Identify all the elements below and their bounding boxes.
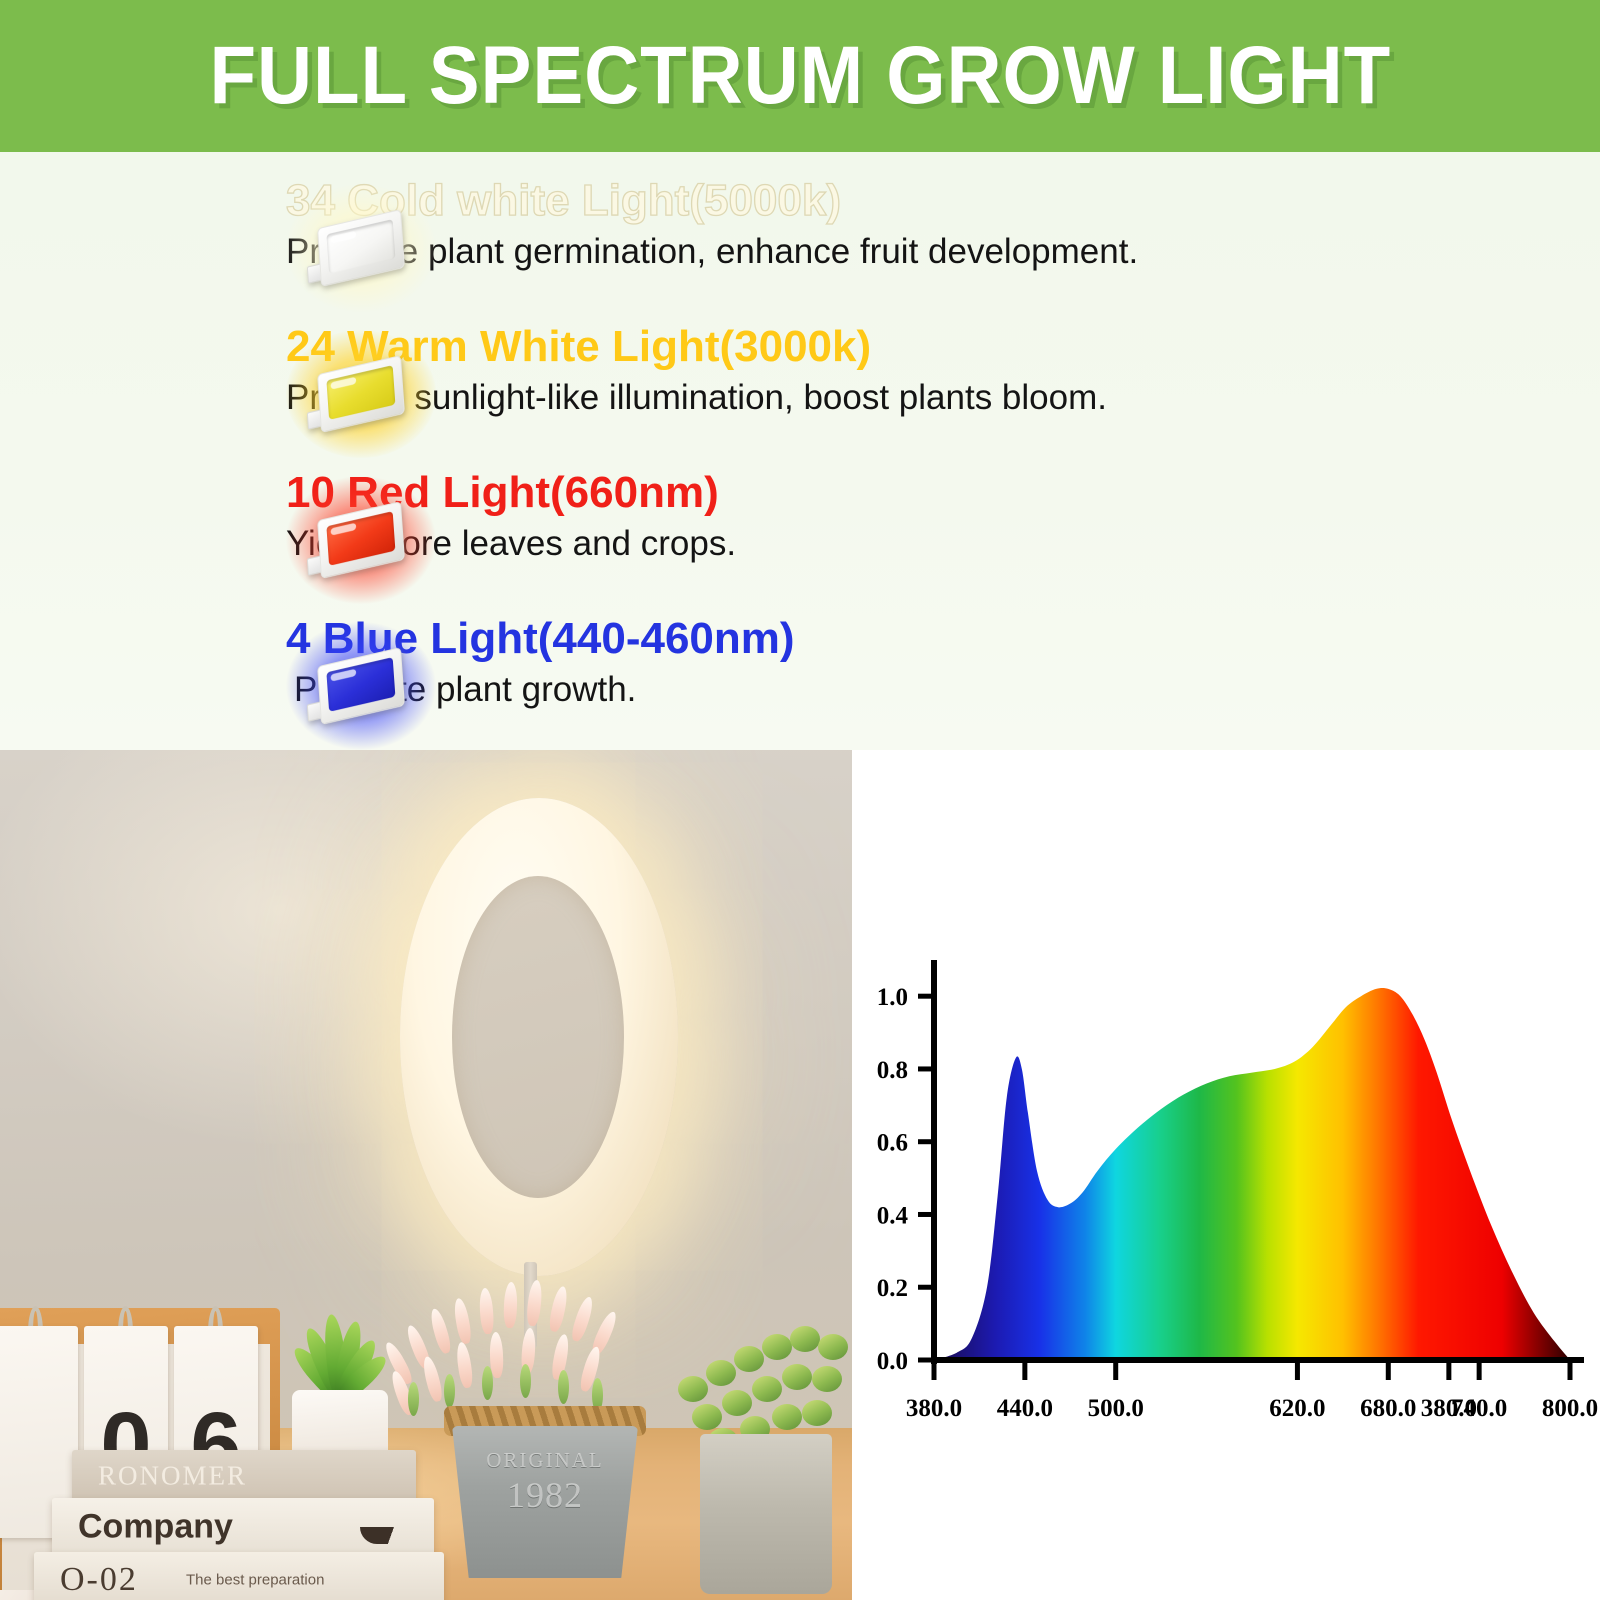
- flower-arrangement: [386, 1278, 716, 1418]
- spectrum-chart-svg: 0.00.20.40.60.81.0 380.0440.0500.0620.06…: [852, 750, 1600, 1600]
- y-tick-label: 0.6: [877, 1130, 908, 1157]
- y-tick-label: 0.8: [877, 1057, 908, 1084]
- y-tick-label: 0.0: [877, 1348, 908, 1375]
- bottom-section: 0 6 RONOMER Company O-02 The best prepar…: [0, 750, 1600, 1600]
- book-subtitle: The best preparation: [186, 1572, 324, 1589]
- spectrum-area-path: [934, 988, 1570, 1360]
- x-tick-label: 800.0: [1542, 1395, 1598, 1422]
- led-chip-warm-white-icon: [286, 334, 436, 454]
- metal-pot: ORIGINAL 1982: [452, 1426, 638, 1578]
- y-tick-label: 0.4: [877, 1202, 909, 1229]
- feature-list: 34 Cold white Light(5000k) Promote plant…: [0, 152, 1600, 750]
- book-title: Company: [78, 1508, 233, 1547]
- led-chip-blue-icon: [286, 626, 436, 746]
- pot-text-year: 1982: [507, 1474, 583, 1516]
- book-title: RONOMER: [98, 1461, 247, 1492]
- led-chip-red-icon: [286, 480, 436, 600]
- ring-grow-light: [400, 798, 678, 1276]
- book-title: O-02: [60, 1561, 138, 1599]
- pot-text-original: ORIGINAL: [486, 1448, 603, 1473]
- y-tick-label: 1.0: [877, 984, 908, 1011]
- x-tick-label: 740.0: [1451, 1395, 1507, 1422]
- feature-row-blue: 4 Blue Light(440-460nm) Promote plant gr…: [0, 612, 1600, 758]
- feature-row-red: 10 Red Light(660nm) Yield more leaves an…: [0, 466, 1600, 612]
- y-axis-ticks: 0.00.20.40.60.81.0: [877, 984, 934, 1375]
- x-tick-label: 500.0: [1088, 1395, 1144, 1422]
- book-stack-item: RONOMER: [72, 1450, 416, 1502]
- fan-graphic-icon: [360, 1510, 394, 1544]
- feature-row-warm-white: 24 Warm White Light(3000k) Provide sunli…: [0, 320, 1600, 466]
- y-tick-label: 0.2: [877, 1275, 908, 1302]
- x-tick-label: 440.0: [997, 1395, 1053, 1422]
- x-axis-ticks: 380.0440.0500.0620.0680.0380.0740.0800.0: [906, 1360, 1598, 1422]
- infographic-page: FULL SPECTRUM GROW LIGHT 34 Cold white L…: [0, 0, 1600, 1600]
- header-banner: FULL SPECTRUM GROW LIGHT: [0, 0, 1600, 152]
- book-stack-item: O-02 The best preparation: [34, 1552, 444, 1600]
- x-tick-label: 620.0: [1269, 1395, 1325, 1422]
- feature-row-cold-white: 34 Cold white Light(5000k) Promote plant…: [0, 174, 1600, 320]
- led-chip-cold-white-icon: [286, 188, 436, 308]
- chart-plot-area: [934, 988, 1570, 1360]
- x-tick-label: 680.0: [1360, 1395, 1416, 1422]
- stone-pot: [700, 1434, 832, 1594]
- x-tick-label: 380.0: [906, 1395, 962, 1422]
- succulent-plant: [284, 1290, 396, 1402]
- book-stack-item: Company: [52, 1498, 434, 1556]
- page-title: FULL SPECTRUM GROW LIGHT: [209, 29, 1391, 123]
- product-photo: 0 6 RONOMER Company O-02 The best prepar…: [0, 750, 852, 1600]
- spectrum-chart: 0.00.20.40.60.81.0 380.0440.0500.0620.06…: [852, 750, 1600, 1600]
